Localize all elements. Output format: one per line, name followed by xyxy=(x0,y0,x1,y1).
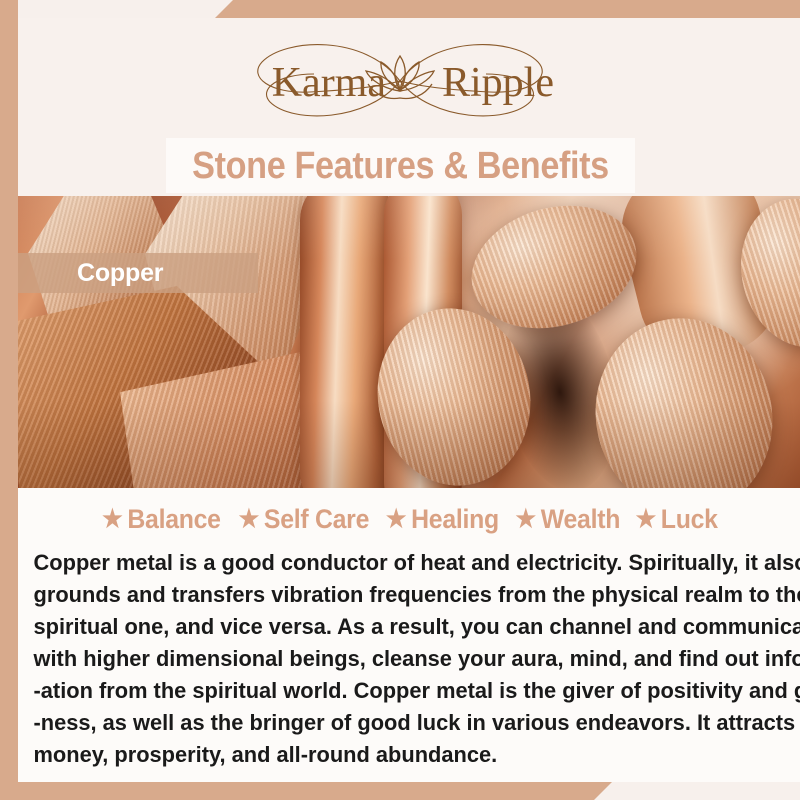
benefit-label: Wealth xyxy=(541,506,620,533)
description-line: -ness, as well as the bringer of good lu… xyxy=(34,707,762,739)
benefit-label: Balance xyxy=(127,506,220,533)
stone-name-tag: Copper xyxy=(18,253,258,293)
frame-bar-left xyxy=(0,0,18,800)
content-panel: ★ Balance ★ Self Care ★ Healing ★ Wealth… xyxy=(18,488,800,782)
description-line: -ation from the spiritual world. Copper … xyxy=(34,675,762,707)
benefits-list: ★ Balance ★ Self Care ★ Healing ★ Wealth… xyxy=(18,488,800,533)
benefit-item-wealth: ★ Wealth xyxy=(516,506,621,533)
page-title: Stone Features & Benefits xyxy=(192,147,609,185)
stone-description: Copper metal is a good conductor of heat… xyxy=(18,547,777,771)
description-line: money, prosperity, and all-round abundan… xyxy=(34,739,762,771)
brand-logo: Karma Ripple xyxy=(0,22,800,140)
benefit-item-balance: ★ Balance xyxy=(102,506,221,533)
brand-name-left: Karma xyxy=(272,60,387,106)
description-line: spiritual one, and vice versa. As a resu… xyxy=(34,611,762,643)
benefit-item-luck: ★ Luck xyxy=(636,506,718,533)
description-line: Copper metal is a good conductor of heat… xyxy=(34,547,762,579)
benefit-label: Healing xyxy=(412,506,500,533)
stone-info-poster: Karma Ripple Stone Features & Benefits C… xyxy=(0,0,800,800)
benefit-item-healing: ★ Healing xyxy=(386,506,499,533)
brand-name-right: Ripple xyxy=(442,60,554,106)
stone-name-label: Copper xyxy=(77,261,163,286)
star-icon: ★ xyxy=(238,507,259,532)
hero-image-copper xyxy=(0,196,800,488)
star-icon: ★ xyxy=(636,507,657,532)
frame-bar-top xyxy=(215,0,800,18)
description-line: with higher dimensional beings, cleanse … xyxy=(34,643,762,675)
star-icon: ★ xyxy=(102,507,123,532)
description-line: grounds and transfers vibration frequenc… xyxy=(34,579,762,611)
copper-tube-1 xyxy=(300,196,395,488)
star-icon: ★ xyxy=(516,507,537,532)
brand-logo-svg: Karma Ripple xyxy=(190,26,610,136)
section-title-banner: Stone Features & Benefits xyxy=(166,138,635,193)
benefit-label: Luck xyxy=(661,506,718,533)
star-icon: ★ xyxy=(386,507,407,532)
benefit-item-self-care: ★ Self Care xyxy=(238,506,368,533)
frame-bar-bottom xyxy=(0,782,612,800)
benefit-label: Self Care xyxy=(264,506,369,533)
